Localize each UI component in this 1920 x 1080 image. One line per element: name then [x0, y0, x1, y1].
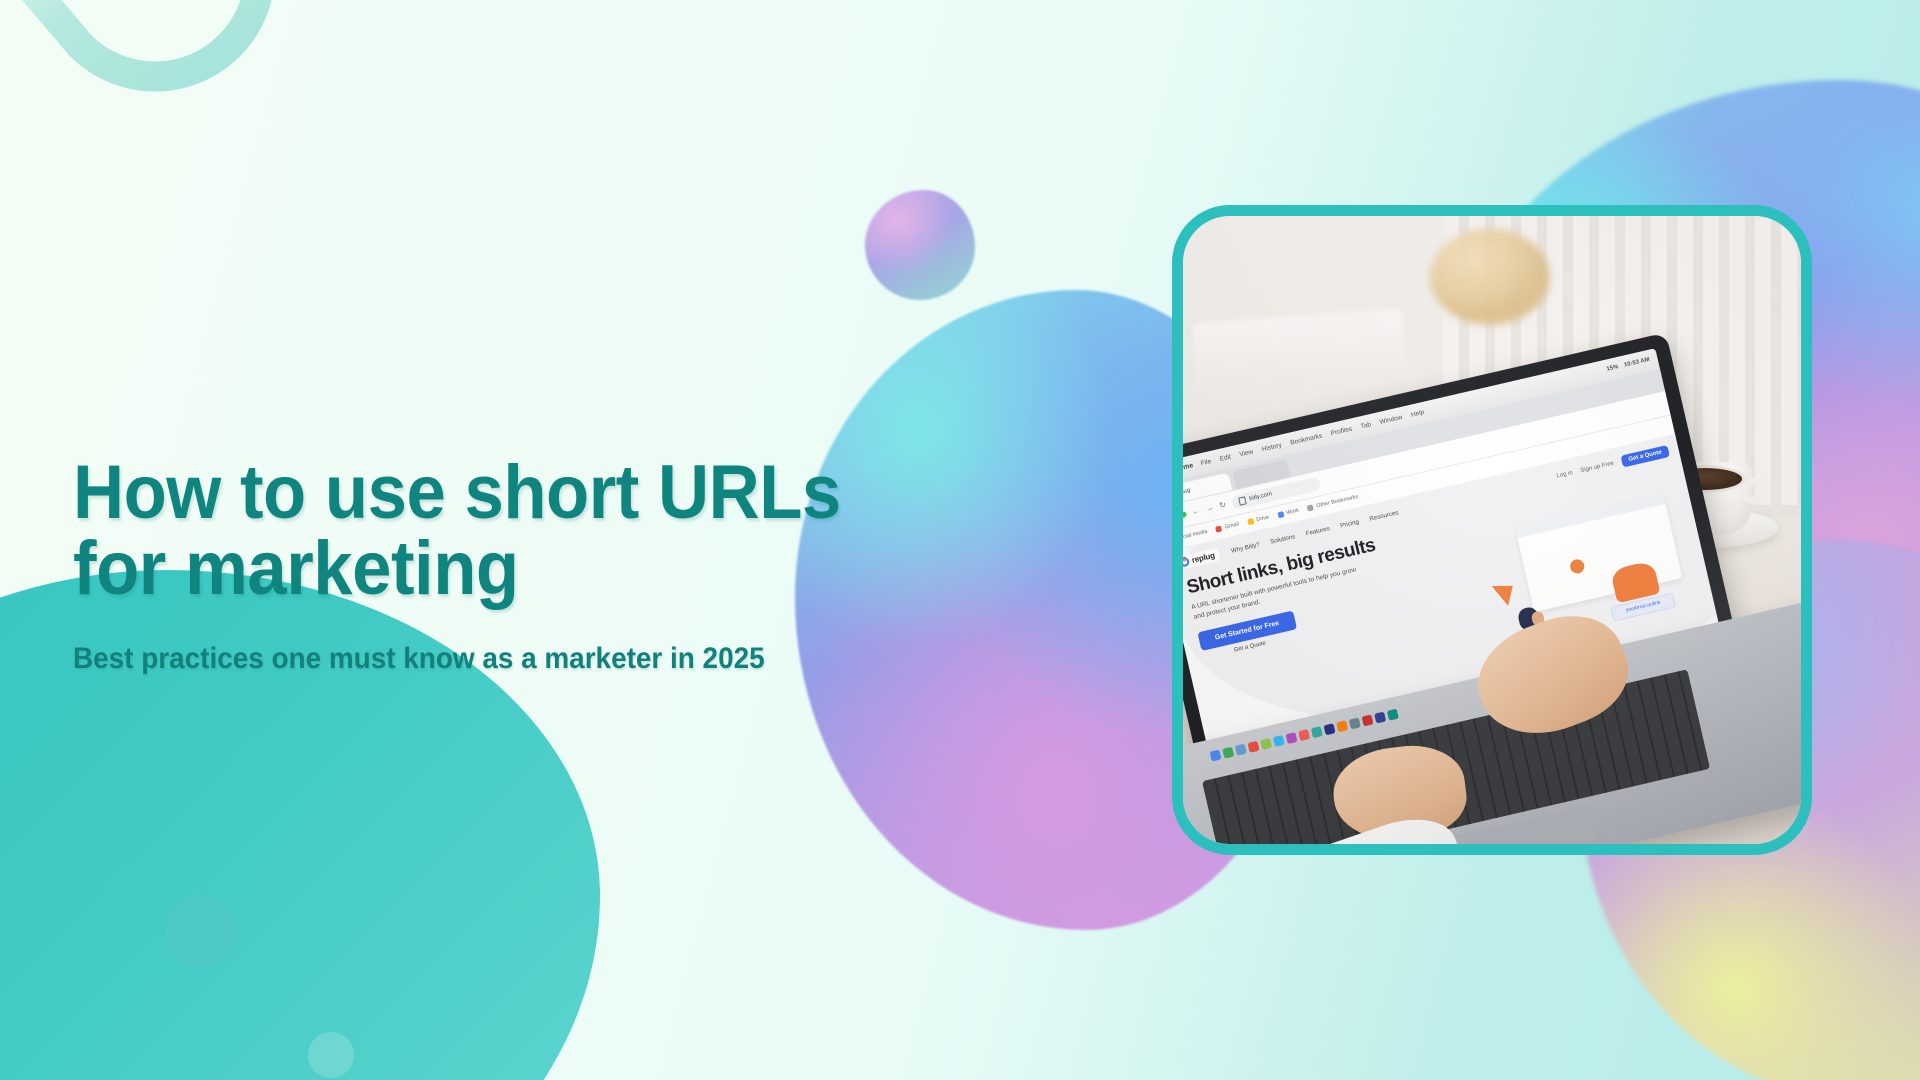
page-title: How to use short URLs for marketing — [73, 455, 845, 607]
hero-copy-block: How to use short URLs for marketing Best… — [73, 455, 903, 677]
photo-tint-overlay — [1183, 216, 1801, 844]
banner-canvas: How to use short URLs for marketing Best… — [0, 0, 1920, 1080]
page-subtitle: Best practices one must know as a market… — [73, 641, 845, 677]
hook-swoosh-decoration — [0, 0, 350, 270]
photo-card: Chrome File Edit View History Bookmarks … — [1172, 205, 1812, 855]
laptop-photo: Chrome File Edit View History Bookmarks … — [1183, 216, 1801, 844]
teal-circle-small — [308, 1032, 354, 1078]
gradient-blob-small — [865, 190, 975, 300]
teal-circle-large — [165, 895, 237, 967]
